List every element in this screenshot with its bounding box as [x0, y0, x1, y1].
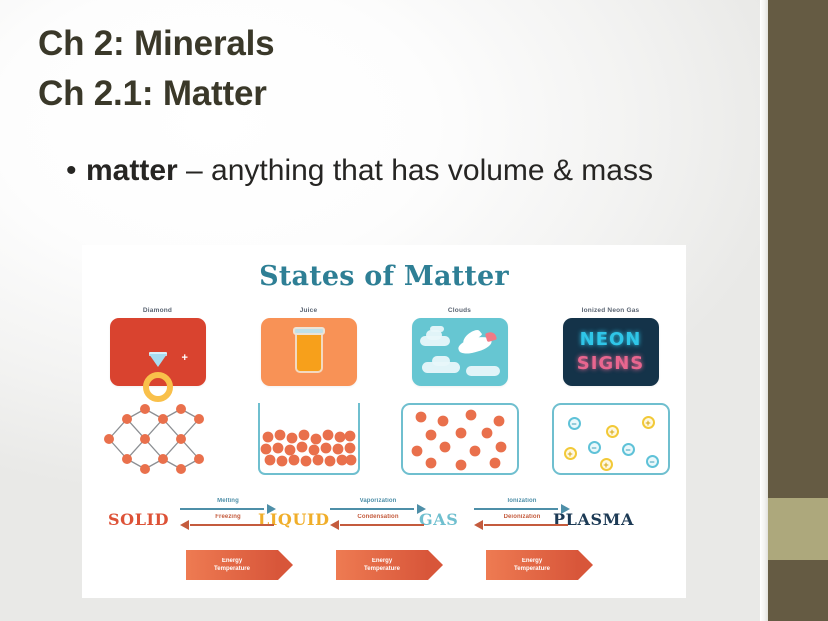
airplane-clouds-icon — [412, 318, 508, 386]
neon-text-line-2: SIGNS — [563, 353, 659, 374]
energy-banner: Energy Temperature — [486, 550, 578, 580]
particle-diagram-solid — [99, 403, 217, 475]
decorative-sidebar-band — [768, 498, 828, 560]
arrow-right-icon — [330, 504, 426, 514]
figure-column-liquid: Juice — [233, 307, 384, 475]
figure-column-gas: Clouds — [384, 307, 535, 475]
bullet-list: • matter – anything that has volume & ma… — [66, 148, 746, 193]
bullet-term: matter — [86, 154, 178, 187]
ion-positive: + — [606, 425, 619, 438]
example-label-neon: Ionized Neon Gas — [535, 307, 686, 314]
state-names-row: SOLID LIQUID GAS PLASMA Melting Freezing… — [82, 498, 686, 544]
bullet-marker-icon: • — [66, 148, 86, 193]
arrow-left-icon — [474, 520, 570, 530]
energy-banner-line-1: Energy — [214, 557, 250, 565]
list-item: • matter – anything that has volume & ma… — [66, 148, 746, 193]
energy-banner-text: Energy Temperature — [364, 557, 400, 573]
example-card-clouds — [412, 318, 508, 386]
bullet-text: matter – anything that has volume & mass — [86, 148, 746, 193]
neon-text-line-1: NEON — [563, 329, 659, 350]
example-card-neon-sign: NEON SIGNS — [563, 318, 659, 386]
ion-negative: − — [646, 455, 659, 468]
energy-banner-line-1: Energy — [364, 557, 400, 565]
particle-diagram-gas — [401, 403, 519, 475]
ion-positive: + — [564, 447, 577, 460]
energy-banner: Energy Temperature — [336, 550, 428, 580]
energy-banner-line-2: Temperature — [364, 565, 400, 573]
ion-positive: + — [642, 416, 655, 429]
transition-gas-plasma: Ionization Deionization — [474, 498, 570, 530]
particle-diagram-liquid — [250, 403, 368, 475]
figure-column-solid: Diamond + — [82, 307, 233, 475]
example-label-clouds: Clouds — [384, 307, 535, 314]
sidebar-edge-highlight — [760, 0, 768, 621]
arrow-left-icon — [180, 520, 276, 530]
solid-lattice-icon — [99, 403, 217, 475]
energy-banner-line-1: Energy — [514, 557, 550, 565]
energy-banner: Energy Temperature — [186, 550, 278, 580]
gas-particles-icon — [401, 403, 519, 475]
ion-negative: − — [622, 443, 635, 456]
figure-column-plasma: Ionized Neon Gas NEON SIGNS − + + − + − … — [535, 307, 686, 475]
liquid-particles-icon — [250, 403, 368, 475]
example-card-diamond: + — [110, 318, 206, 386]
energy-banner-text: Energy Temperature — [214, 557, 250, 573]
page-title-line-2: Ch 2.1: Matter — [38, 69, 738, 119]
energy-banner-text: Energy Temperature — [514, 557, 550, 573]
states-of-matter-figure: States of Matter Diamond + — [82, 245, 686, 598]
arrow-right-icon — [474, 504, 570, 514]
page-title: Ch 2: Minerals Ch 2.1: Matter — [38, 19, 738, 119]
energy-banners-row: Energy Temperature Energy Temperature En… — [82, 550, 686, 590]
transition-solid-liquid: Melting Freezing — [180, 498, 276, 530]
example-label-diamond: Diamond — [82, 307, 233, 314]
ion-negative: − — [568, 417, 581, 430]
arrow-left-icon — [330, 520, 426, 530]
state-name-solid: SOLID — [108, 510, 169, 529]
page-title-line-1: Ch 2: Minerals — [38, 19, 738, 69]
particle-diagram-plasma: − + + − + − + − — [552, 403, 670, 475]
figure-title: States of Matter — [82, 261, 686, 292]
energy-banner-line-2: Temperature — [214, 565, 250, 573]
example-card-juice — [261, 318, 357, 386]
energy-banner-line-2: Temperature — [514, 565, 550, 573]
decorative-sidebar — [768, 0, 828, 621]
example-label-juice: Juice — [233, 307, 384, 314]
transition-liquid-gas: Vaporization Condensation — [330, 498, 426, 530]
sparkle-icon: + — [182, 353, 188, 364]
ion-negative: − — [588, 441, 601, 454]
bullet-definition: – anything that has volume & mass — [178, 154, 653, 187]
arrow-right-icon — [180, 504, 276, 514]
slide-canvas: Ch 2: Minerals Ch 2.1: Matter • matter –… — [0, 0, 828, 621]
ion-positive: + — [600, 458, 613, 471]
